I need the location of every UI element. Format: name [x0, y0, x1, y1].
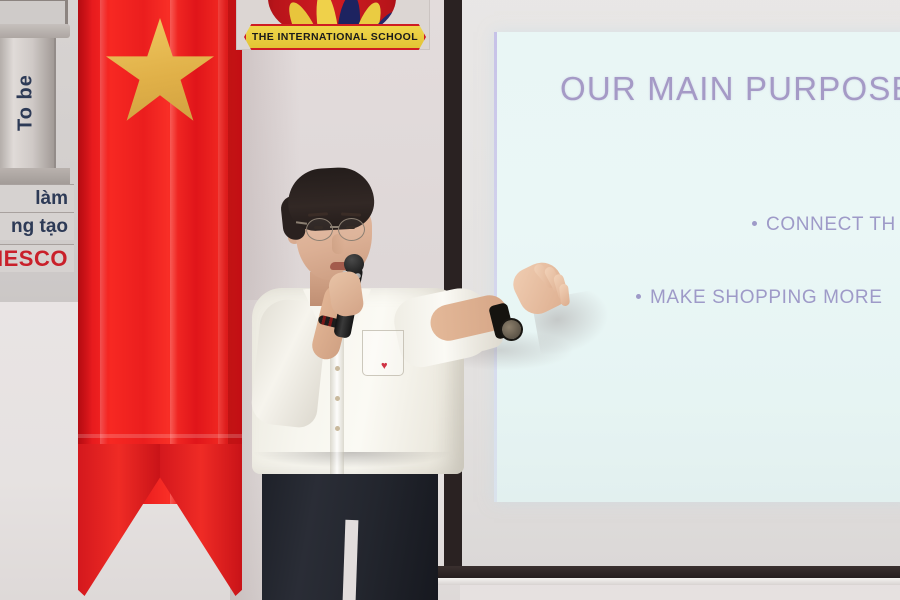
- finger: [559, 284, 570, 307]
- glasses-bridge: [330, 226, 339, 228]
- presenter: ♥: [0, 0, 900, 600]
- heart-logo-icon: ♥: [381, 361, 392, 372]
- shirt-hem-shadow: [252, 452, 452, 468]
- shirt-button: [335, 366, 340, 371]
- presenter-nose: [332, 234, 345, 254]
- presentation-photo: To be làm ng tạo NESCO THE INTERNATIONAL…: [0, 0, 900, 600]
- shirt-button: [335, 396, 340, 401]
- glasses-lens-left-icon: [306, 218, 333, 241]
- jeans-leg-gap: [343, 520, 359, 600]
- shirt-button: [335, 426, 340, 431]
